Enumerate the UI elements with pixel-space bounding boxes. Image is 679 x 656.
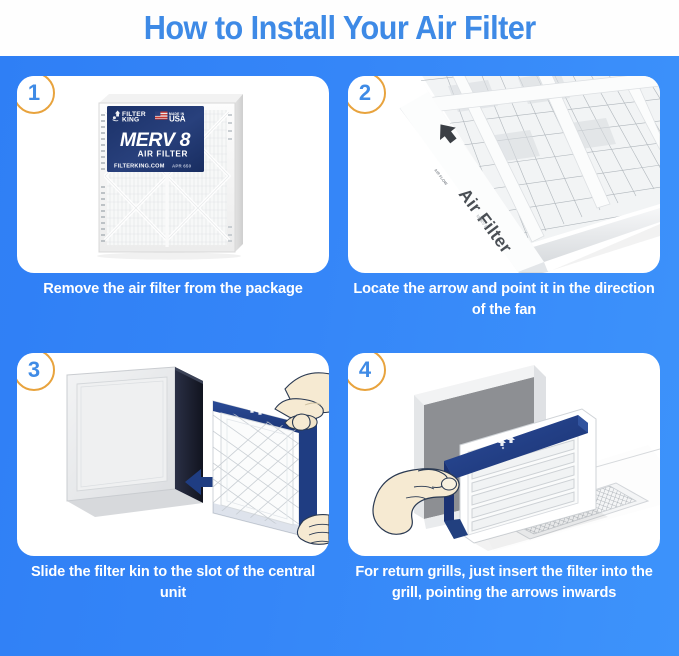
steps-grid: FILTER KING MADE IN [0, 56, 679, 656]
step-4-card-surface: 4 [348, 353, 660, 556]
step-caption-4: For return grills, just insert the filte… [348, 562, 660, 604]
svg-text:FILTERKING.COM: FILTERKING.COM [114, 164, 165, 170]
svg-text:AIR FILTER: AIR FILTER [138, 150, 188, 159]
svg-text:MERV 8: MERV 8 [120, 129, 191, 151]
svg-text:APR 650: APR 650 [172, 164, 192, 169]
step-card-3: 3 Slide the filter kin to the slot of th… [17, 353, 329, 634]
step-3-illustration [17, 353, 329, 556]
steps-board: FILTER KING MADE IN [0, 56, 679, 656]
svg-text:USA: USA [169, 115, 186, 124]
step-1-illustration: FILTER KING MADE IN [17, 76, 329, 273]
step-caption-2: Locate the arrow and point it in the dir… [348, 279, 660, 321]
step-2-card-surface: AIR FLOW Air Filter MERV 8 2 [348, 76, 660, 273]
step-2-illustration: AIR FLOW Air Filter MERV 8 [348, 76, 660, 273]
svg-text:KING: KING [122, 116, 139, 123]
step-3-card-surface: 3 [17, 353, 329, 556]
step-card-4: 4 For return grills, just insert the fil… [348, 353, 660, 656]
step-1-card-surface: FILTER KING MADE IN [17, 76, 329, 273]
header: How to Install Your Air Filter [0, 0, 679, 56]
step-caption-3: Slide the filter kin to the slot of the … [17, 562, 329, 604]
step-caption-1: Remove the air filter from the package [17, 279, 329, 300]
infographic-page: How to Install Your Air Filter [0, 0, 679, 656]
step-4-illustration [348, 353, 660, 556]
page-title: How to Install Your Air Filter [144, 9, 536, 47]
step-card-1: FILTER KING MADE IN [17, 76, 329, 341]
step-card-2: AIR FLOW Air Filter MERV 8 2 Locate the … [348, 76, 660, 353]
